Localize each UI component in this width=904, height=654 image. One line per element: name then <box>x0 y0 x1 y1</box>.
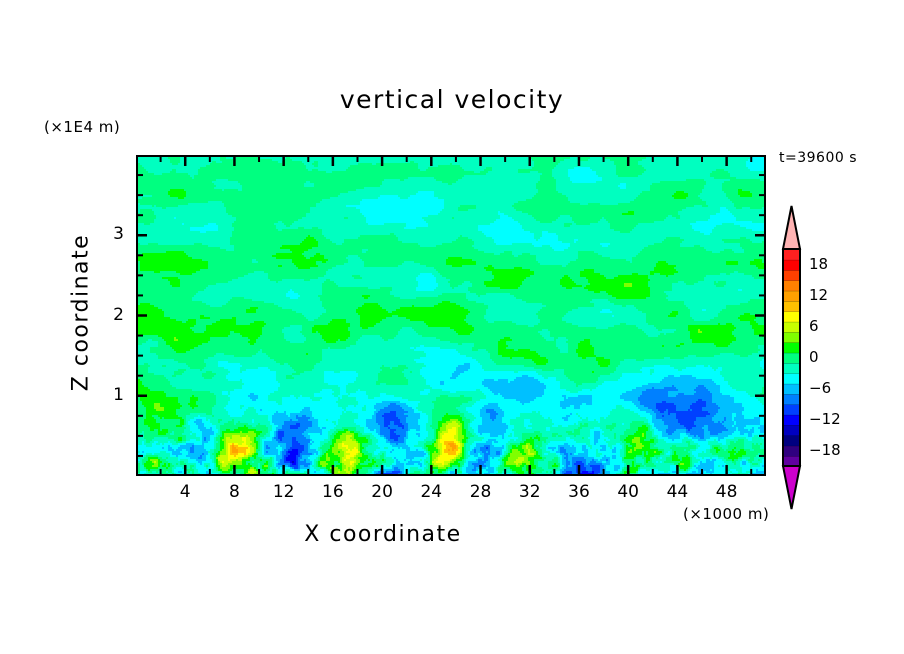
colorbar-tick-label: 0 <box>809 348 819 366</box>
x-tick-label: 32 <box>505 482 555 502</box>
colorbar-tick-label: −6 <box>809 379 831 397</box>
colorbar-swatches <box>779 205 813 510</box>
z-tick-label: 1 <box>92 385 124 405</box>
colorbar-tick-label: −12 <box>809 410 841 428</box>
colorbar <box>779 205 813 510</box>
contour-field <box>136 155 766 476</box>
time-annotation: t=39600 s <box>779 150 857 166</box>
colorbar-tick-label: 6 <box>809 317 819 335</box>
x-tick-label: 20 <box>357 482 407 502</box>
colorbar-tick-label: 12 <box>809 286 828 304</box>
x-axis-title: X coordinate <box>0 522 766 547</box>
contour-plot <box>136 155 766 476</box>
colorbar-tick-label: 18 <box>809 255 828 273</box>
x-tick-label: 12 <box>259 482 309 502</box>
x-tick-label: 16 <box>308 482 358 502</box>
x-tick-label: 28 <box>456 482 506 502</box>
z-axis-title: Z coordinate <box>69 213 94 413</box>
z-tick-label: 3 <box>92 224 124 244</box>
x-tick-label: 24 <box>406 482 456 502</box>
x-tick-label: 40 <box>603 482 653 502</box>
page-title: vertical velocity <box>0 85 904 114</box>
z-tick-label: 2 <box>92 305 124 325</box>
z-axis-unit-label: (×1E4 m) <box>44 118 120 136</box>
x-tick-label: 44 <box>652 482 702 502</box>
x-axis-unit-label: (×1000 m) <box>683 505 769 523</box>
colorbar-tick-label: −18 <box>809 441 841 459</box>
x-tick-label: 4 <box>160 482 210 502</box>
x-tick-label: 48 <box>702 482 752 502</box>
x-tick-label: 36 <box>554 482 604 502</box>
x-tick-label: 8 <box>209 482 259 502</box>
